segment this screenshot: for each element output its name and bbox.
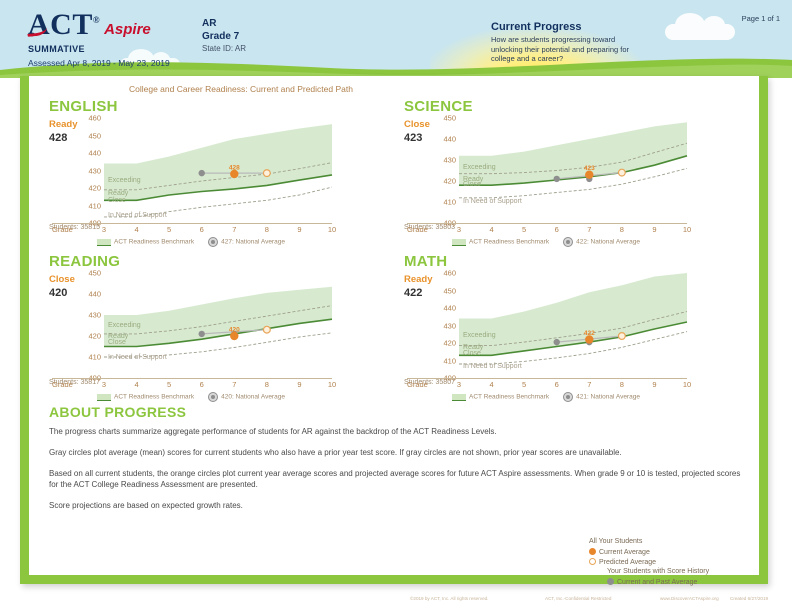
- act-aspire-logo: ACT®Aspire: [28, 10, 151, 40]
- y-axis-tick-label: 430: [88, 311, 101, 320]
- x-axis-tick-label: 10: [328, 380, 336, 389]
- chart-math: MATHReady422Students: 358074224004104204…: [404, 253, 734, 408]
- legend-national-average-label: 420: National Average: [221, 394, 285, 401]
- exceeding-band: [104, 124, 332, 200]
- current-progress-title: Current Progress: [491, 21, 581, 33]
- x-axis-tick-label: 10: [683, 380, 691, 389]
- x-axis-tick-label: 3: [102, 380, 106, 389]
- x-axis-line: [52, 378, 332, 379]
- x-axis-tick-label: 8: [265, 380, 269, 389]
- assessed-dates: Assessed Apr 8, 2019 - May 23, 2019: [28, 58, 170, 68]
- x-axis-tick-label: 8: [265, 225, 269, 234]
- y-axis-tick-label: 420: [88, 332, 101, 341]
- current-average-value-label: 428: [229, 165, 240, 172]
- report-legend: All Your Students Current Average Predic…: [589, 538, 759, 588]
- footer-confidential: ACT, Inc.-Confidential Restricted: [545, 596, 611, 601]
- y-axis-tick-label: 440: [88, 149, 101, 158]
- gray-current-past-average-marker: [199, 331, 205, 337]
- national-average-icon: [208, 237, 218, 247]
- footer-created: Created 6/27/2019: [730, 596, 768, 601]
- chart-plot-area: 422400410420430440450460Grade345678910Ex…: [459, 273, 687, 378]
- orange-predicted-average-marker: [263, 326, 270, 333]
- chart-legend: ACT Readiness Benchmark427: National Ave…: [97, 237, 285, 247]
- x-axis-tick-label: 9: [652, 380, 656, 389]
- x-axis-tick-label: 10: [683, 225, 691, 234]
- x-axis-tick-label: 4: [489, 225, 493, 234]
- chart-subject-title: READING: [49, 253, 120, 270]
- footer-copyright: ©2019 by ACT, Inc. All rights reserved.: [410, 596, 488, 601]
- benchmark-swatch-icon: [97, 394, 111, 401]
- legend-national-average-label: 427: National Average: [221, 239, 285, 246]
- x-axis-tick-label: 6: [555, 225, 559, 234]
- chart-legend: ACT Readiness Benchmark421: National Ave…: [452, 392, 640, 402]
- act-wordmark: ACT®: [28, 10, 100, 40]
- page-number: Page 1 of 1: [742, 14, 780, 23]
- legend-column-all-students: All Your Students Current Average Predic…: [589, 538, 656, 568]
- readiness-band-label: Close: [108, 339, 126, 346]
- legend-current-past-average-label: Current and Past Average: [617, 579, 697, 586]
- about-paragraph-4: Score projections are based on expected …: [49, 500, 749, 511]
- aspire-wordmark: Aspire: [104, 21, 151, 38]
- orange-predicted-average-marker: [618, 333, 625, 340]
- legend-column-score-history: Your Students with Score History Current…: [607, 568, 709, 588]
- x-axis-tick-label: 3: [457, 225, 461, 234]
- readiness-band-label: In Need of Support: [108, 212, 167, 219]
- legend-predicted-average: Predicted Average: [589, 558, 656, 566]
- legend-predicted-average-label: Predicted Average: [599, 559, 656, 566]
- chart-plot-area: 423400410420430440450Grade345678910Excee…: [459, 118, 687, 223]
- legend-benchmark-label: ACT Readiness Benchmark: [469, 239, 549, 246]
- cloud-icon: [665, 24, 735, 40]
- x-axis-tick-label: 5: [167, 225, 171, 234]
- gray-current-past-average-marker: [199, 170, 205, 176]
- x-axis-line: [52, 223, 332, 224]
- x-axis-tick-label: 7: [232, 380, 236, 389]
- legend-benchmark-label: ACT Readiness Benchmark: [469, 394, 549, 401]
- about-progress-title: ABOUT PROGRESS: [49, 404, 186, 420]
- x-axis-tick-label: 4: [489, 380, 493, 389]
- current-average-value-label: 423: [584, 165, 595, 172]
- x-axis-title: Grade: [407, 225, 428, 234]
- x-axis-title: Grade: [407, 380, 428, 389]
- chart-svg: 428: [104, 118, 332, 223]
- school-name: AR Grade 7: [202, 17, 239, 43]
- readiness-band-label: Exceeding: [463, 332, 496, 339]
- x-axis-tick-label: 9: [297, 380, 301, 389]
- legend-all-students-title: All Your Students: [589, 538, 656, 545]
- about-paragraph-1: The progress charts summarize aggregate …: [49, 426, 749, 437]
- y-axis-tick-label: 430: [443, 156, 456, 165]
- y-axis-tick-label: 410: [443, 356, 456, 365]
- y-axis-tick-label: 450: [88, 131, 101, 140]
- about-paragraph-3: Based on all current students, the orang…: [49, 468, 749, 490]
- y-axis-tick-label: 420: [443, 339, 456, 348]
- x-axis-tick-label: 5: [167, 380, 171, 389]
- section-title: College and Career Readiness: Current an…: [129, 84, 353, 94]
- orange-predicted-average-marker: [263, 170, 270, 177]
- y-axis-tick-label: 410: [88, 353, 101, 362]
- report-sheet: College and Career Readiness: Current an…: [20, 76, 768, 584]
- chart-score: 422: [404, 287, 447, 299]
- y-axis-tick-label: 410: [88, 201, 101, 210]
- readiness-band-label: In Need of Support: [463, 363, 522, 370]
- benchmark-swatch-icon: [452, 239, 466, 246]
- x-axis-tick-label: 5: [522, 225, 526, 234]
- chart-subject-title: MATH: [404, 253, 447, 270]
- gray-filled-dot-icon: [607, 578, 614, 585]
- x-axis-tick-label: 6: [200, 380, 204, 389]
- y-axis-tick-label: 430: [443, 321, 456, 330]
- benchmark-swatch-icon: [97, 239, 111, 246]
- legend-national-average-label: 422: National Average: [576, 239, 640, 246]
- x-axis-tick-label: 7: [587, 380, 591, 389]
- y-axis-tick-label: 450: [88, 269, 101, 278]
- legend-benchmark-label: ACT Readiness Benchmark: [114, 239, 194, 246]
- readiness-band-label: In Need of Support: [108, 354, 167, 361]
- x-axis-tick-label: 6: [200, 225, 204, 234]
- current-average-value-label: 420: [229, 327, 240, 334]
- school-label: AR: [202, 17, 239, 30]
- x-axis-tick-label: 3: [457, 380, 461, 389]
- x-axis-line: [407, 378, 687, 379]
- y-axis-tick-label: 410: [443, 198, 456, 207]
- chart-subject-title: ENGLISH: [49, 98, 118, 115]
- chart-legend: ACT Readiness Benchmark420: National Ave…: [97, 392, 285, 402]
- y-axis-tick-label: 420: [88, 184, 101, 193]
- x-axis-tick-label: 10: [328, 225, 336, 234]
- orange-filled-dot-icon: [589, 548, 596, 555]
- chart-legend: ACT Readiness Benchmark422: National Ave…: [452, 237, 640, 247]
- chart-plot-area: 428400410420430440450460Grade345678910Ex…: [104, 118, 332, 223]
- national-average-icon: [563, 237, 573, 247]
- chart-reading: READINGClose420Students: 358174204004104…: [49, 253, 379, 408]
- y-axis-tick-label: 450: [443, 114, 456, 123]
- x-axis-tick-label: 4: [134, 225, 138, 234]
- y-axis-tick-label: 440: [443, 135, 456, 144]
- gray-current-past-average-marker: [554, 176, 560, 182]
- legend-current-average: Current Average: [589, 548, 656, 556]
- y-axis-tick-label: 460: [88, 114, 101, 123]
- orange-predicted-average-marker: [618, 169, 625, 176]
- orange-hollow-dot-icon: [589, 558, 596, 565]
- x-axis-tick-label: 7: [587, 225, 591, 234]
- readiness-band-label: Ready: [108, 190, 128, 197]
- y-axis-tick-label: 440: [88, 290, 101, 299]
- about-paragraph-2: Gray circles plot average (mean) scores …: [49, 447, 749, 458]
- summative-label: SUMMATIVE: [28, 44, 85, 54]
- x-axis-tick-label: 4: [134, 380, 138, 389]
- benchmark-swatch-icon: [452, 394, 466, 401]
- exceeding-band: [459, 122, 687, 185]
- gray-current-past-average-marker: [554, 339, 560, 345]
- exceeding-band: [459, 273, 687, 355]
- legend-score-history-title: Your Students with Score History: [607, 568, 709, 575]
- grade-label: Grade 7: [202, 30, 239, 43]
- x-axis-tick-label: 9: [297, 225, 301, 234]
- chart-science: SCIENCEClose423Students: 358034234004104…: [404, 98, 734, 253]
- x-axis-tick-label: 6: [555, 380, 559, 389]
- y-axis-tick-label: 430: [88, 166, 101, 175]
- x-axis-tick-label: 8: [620, 380, 624, 389]
- x-axis-tick-label: 9: [652, 225, 656, 234]
- x-axis-line: [407, 223, 687, 224]
- current-progress-subtitle: How are students progressing toward unlo…: [491, 35, 636, 64]
- y-axis-tick-label: 440: [443, 304, 456, 313]
- chart-readiness-level: Ready: [404, 274, 447, 285]
- y-axis-tick-label: 450: [443, 286, 456, 295]
- footer-website: www.DiscoverACTAspire.org: [660, 596, 719, 601]
- x-axis-tick-label: 7: [232, 225, 236, 234]
- national-average-icon: [563, 392, 573, 402]
- chart-subject-title: SCIENCE: [404, 98, 473, 115]
- x-axis-tick-label: 3: [102, 225, 106, 234]
- state-id: State ID: AR: [202, 44, 246, 53]
- x-axis-title: Grade: [52, 225, 73, 234]
- readiness-band-label: Close: [463, 350, 481, 357]
- chart-plot-area: 420400410420430440450Grade345678910Excee…: [104, 273, 332, 378]
- legend-national-average-label: 421: National Average: [576, 394, 640, 401]
- y-axis-tick-label: 460: [443, 269, 456, 278]
- legend-current-past-average: Current and Past Average: [607, 578, 709, 586]
- y-axis-tick-label: 420: [443, 177, 456, 186]
- page-header: ACT®Aspire SUMMATIVE Assessed Apr 8, 201…: [0, 0, 792, 78]
- national-average-icon: [208, 392, 218, 402]
- legend-benchmark-label: ACT Readiness Benchmark: [114, 394, 194, 401]
- x-axis-tick-label: 5: [522, 380, 526, 389]
- legend-current-average-label: Current Average: [599, 549, 650, 556]
- readiness-band-label: Close: [108, 197, 126, 204]
- trademark-symbol: ®: [93, 15, 100, 25]
- readiness-band-label: Close: [463, 181, 481, 188]
- x-axis-tick-label: 8: [620, 225, 624, 234]
- chart-english: ENGLISHReady428Students: 358154284004104…: [49, 98, 379, 253]
- readiness-band-label: Exceeding: [108, 322, 141, 329]
- x-axis-title: Grade: [52, 380, 73, 389]
- readiness-band-label: Exceeding: [463, 164, 496, 171]
- current-average-value-label: 422: [584, 330, 595, 337]
- readiness-band-label: In Need of Support: [463, 198, 522, 205]
- readiness-band-label: Exceeding: [108, 177, 141, 184]
